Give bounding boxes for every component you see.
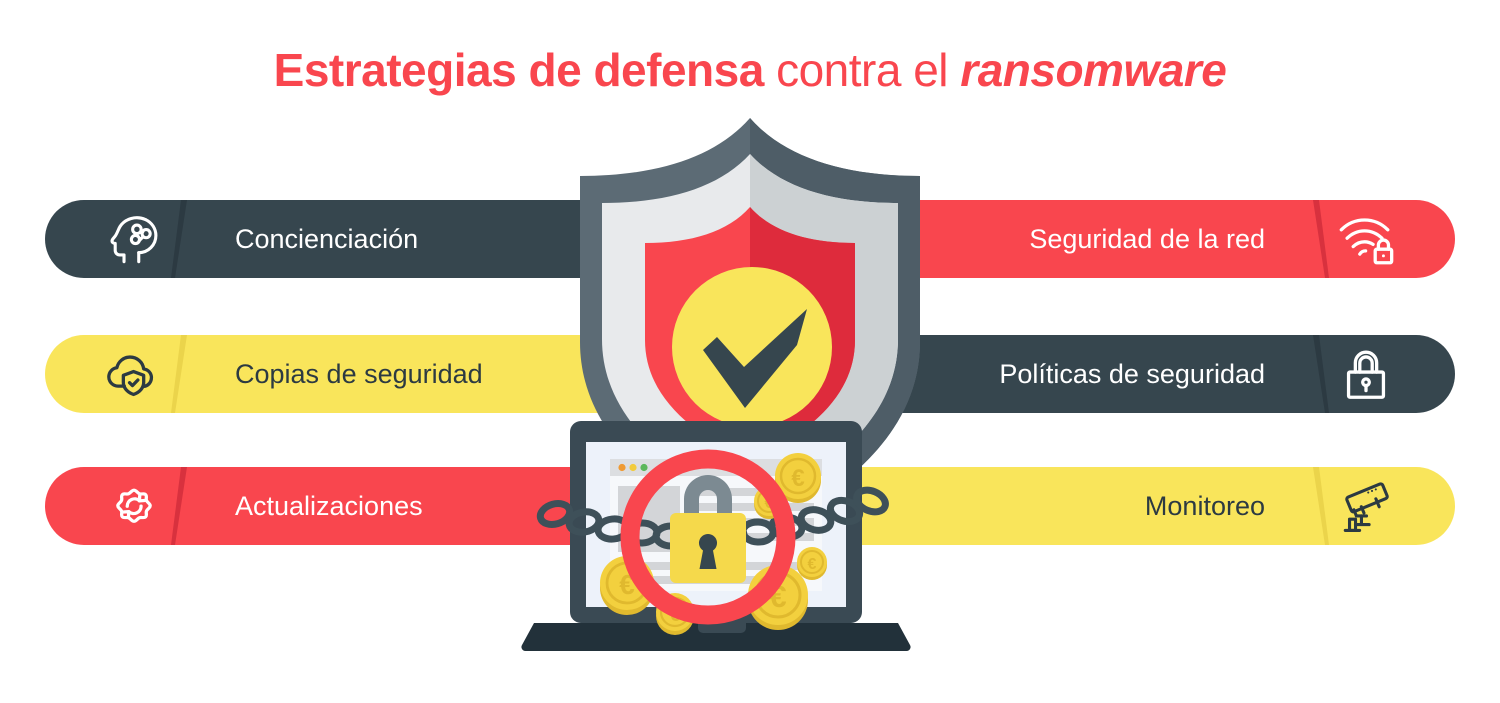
coin: €	[797, 547, 827, 580]
padlock-icon	[1335, 343, 1397, 405]
cctv-camera-icon	[1335, 475, 1397, 537]
cloud-shield-check-icon	[103, 343, 165, 405]
check-mark-icon	[672, 267, 832, 427]
panel-label: Monitoreo	[1145, 467, 1265, 545]
panel-label: Concienciación	[235, 200, 418, 278]
page-title: Estrategias de defensa contra el ransomw…	[0, 42, 1500, 98]
wifi-lock-icon	[1335, 208, 1397, 270]
brain-head-icon	[103, 208, 165, 270]
title-part-ransomware: ransomware	[960, 44, 1226, 96]
svg-text:€: €	[791, 465, 804, 492]
panel-label: Copias de seguridad	[235, 335, 483, 413]
panel-fold	[1313, 200, 1329, 278]
panel-fold	[171, 335, 187, 413]
title-part-3: contra el	[764, 44, 961, 96]
panel-fold	[1313, 335, 1329, 413]
panel-fold	[1313, 467, 1329, 545]
panel-fold	[171, 200, 187, 278]
panel-label: Actualizaciones	[235, 467, 423, 545]
gear-refresh-icon	[103, 475, 165, 537]
panel-fold	[171, 467, 187, 545]
svg-text:€: €	[808, 556, 817, 573]
panel-label: Políticas de seguridad	[999, 335, 1265, 413]
panel-label: Seguridad de la red	[1029, 200, 1265, 278]
title-part-defensa: defensa	[593, 44, 763, 96]
title-part-1: Estrategias de	[274, 44, 594, 96]
shield-with-checkmark-and-ransomware-laptop: € € € € € €	[500, 110, 1000, 670]
